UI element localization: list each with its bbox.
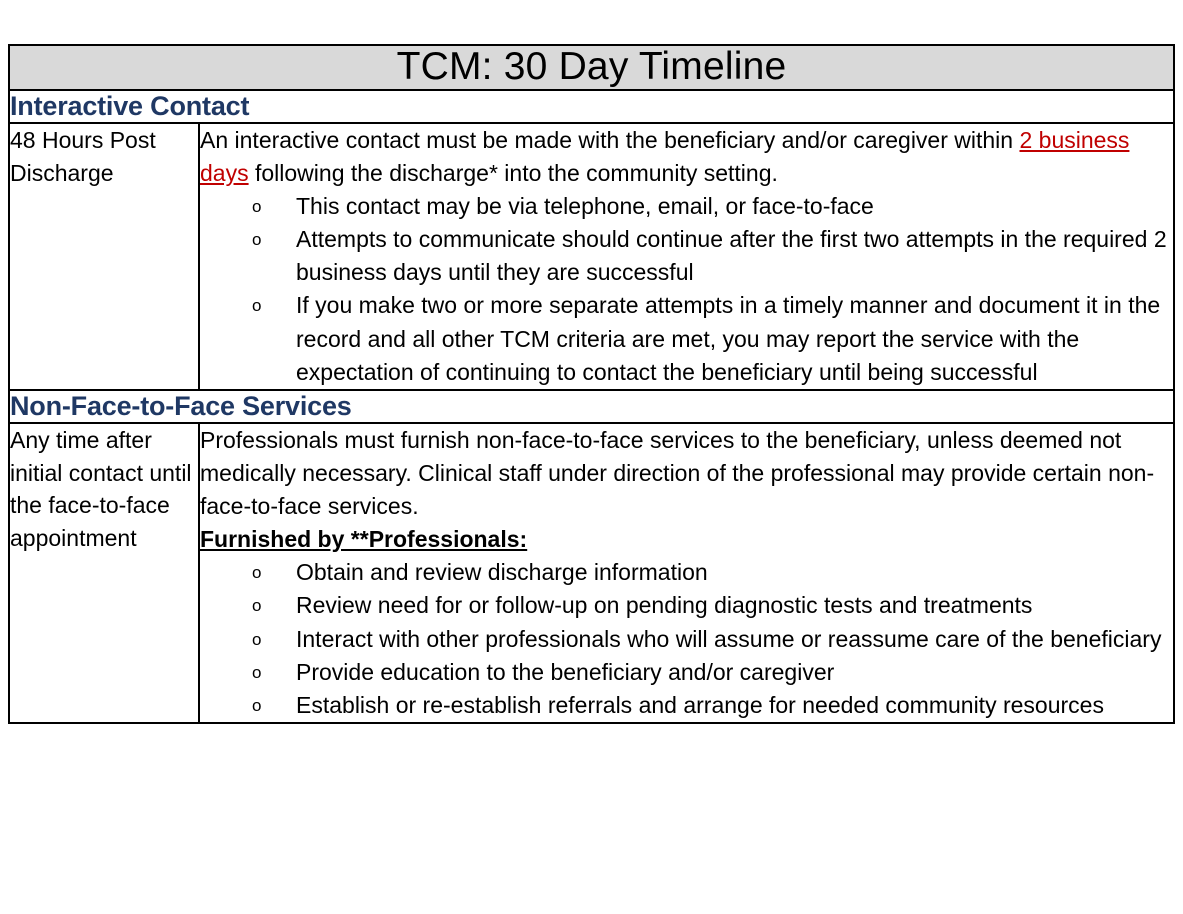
non-face-to-face-bullet-list: o Obtain and review discharge informatio… xyxy=(200,556,1173,722)
circle-bullet-icon: o xyxy=(252,556,261,590)
list-item: o If you make two or more separate attem… xyxy=(200,289,1173,388)
circle-bullet-icon: o xyxy=(252,689,261,723)
list-item-text: This contact may be via telephone, email… xyxy=(296,193,874,219)
section-heading-row: Non-Face-to-Face Services xyxy=(9,390,1174,423)
section-heading-cell-non-face-to-face: Non-Face-to-Face Services xyxy=(9,390,1174,423)
list-item: o Obtain and review discharge informatio… xyxy=(200,556,1173,589)
section-heading-interactive-contact: Interactive Contact xyxy=(10,91,1173,122)
furnished-by-professionals-subheading: Furnished by **Professionals: xyxy=(200,523,1173,556)
list-item-text: Interact with other professionals who wi… xyxy=(296,626,1161,652)
circle-bullet-icon: o xyxy=(252,289,261,323)
paragraph-text-before: An interactive contact must be made with… xyxy=(200,127,1019,153)
content-cell-1: An interactive contact must be made with… xyxy=(199,123,1174,390)
list-item-text: Provide education to the beneficiary and… xyxy=(296,659,834,685)
document-page: TCM: 30 Day Timeline Interactive Contact… xyxy=(0,0,1183,914)
interactive-contact-bullet-list: o This contact may be via telephone, ema… xyxy=(200,190,1173,389)
table-row: Any time after initial contact until the… xyxy=(9,423,1174,723)
list-item: o Attempts to communicate should continu… xyxy=(200,223,1173,289)
interactive-contact-paragraph: An interactive contact must be made with… xyxy=(200,124,1173,190)
list-item-text: If you make two or more separate attempt… xyxy=(296,292,1160,384)
circle-bullet-icon: o xyxy=(252,656,261,690)
page-title: TCM: 30 Day Timeline xyxy=(10,46,1173,89)
title-row: TCM: 30 Day Timeline xyxy=(9,45,1174,90)
timeframe-cell-2: Any time after initial contact until the… xyxy=(9,423,199,723)
list-item: o Interact with other professionals who … xyxy=(200,623,1173,656)
non-face-to-face-paragraph: Professionals must furnish non-face-to-f… xyxy=(200,424,1173,523)
tcm-timeline-table: TCM: 30 Day Timeline Interactive Contact… xyxy=(8,44,1175,724)
list-item-text: Attempts to communicate should continue … xyxy=(296,226,1167,285)
circle-bullet-icon: o xyxy=(252,623,261,657)
timeframe-label-1: 48 Hours Post Discharge xyxy=(10,124,198,189)
circle-bullet-icon: o xyxy=(252,223,261,257)
table-row: 48 Hours Post Discharge An interactive c… xyxy=(9,123,1174,390)
timeframe-label-2: Any time after initial contact until the… xyxy=(10,424,198,555)
title-cell: TCM: 30 Day Timeline xyxy=(9,45,1174,90)
list-item-text: Obtain and review discharge information xyxy=(296,559,708,585)
list-item-text: Establish or re-establish referrals and … xyxy=(296,692,1104,718)
list-item: o Provide education to the beneficiary a… xyxy=(200,656,1173,689)
list-item: o Establish or re-establish referrals an… xyxy=(200,689,1173,722)
circle-bullet-icon: o xyxy=(252,589,261,623)
section-heading-non-face-to-face-services: Non-Face-to-Face Services xyxy=(10,391,1173,422)
list-item: o This contact may be via telephone, ema… xyxy=(200,190,1173,223)
timeframe-cell-1: 48 Hours Post Discharge xyxy=(9,123,199,390)
list-item-text: Review need for or follow-up on pending … xyxy=(296,592,1032,618)
section-heading-row: Interactive Contact xyxy=(9,90,1174,123)
paragraph-text-after: following the discharge* into the commun… xyxy=(249,160,778,186)
section-heading-cell-interactive-contact: Interactive Contact xyxy=(9,90,1174,123)
content-cell-2: Professionals must furnish non-face-to-f… xyxy=(199,423,1174,723)
circle-bullet-icon: o xyxy=(252,190,261,224)
list-item: o Review need for or follow-up on pendin… xyxy=(200,589,1173,622)
